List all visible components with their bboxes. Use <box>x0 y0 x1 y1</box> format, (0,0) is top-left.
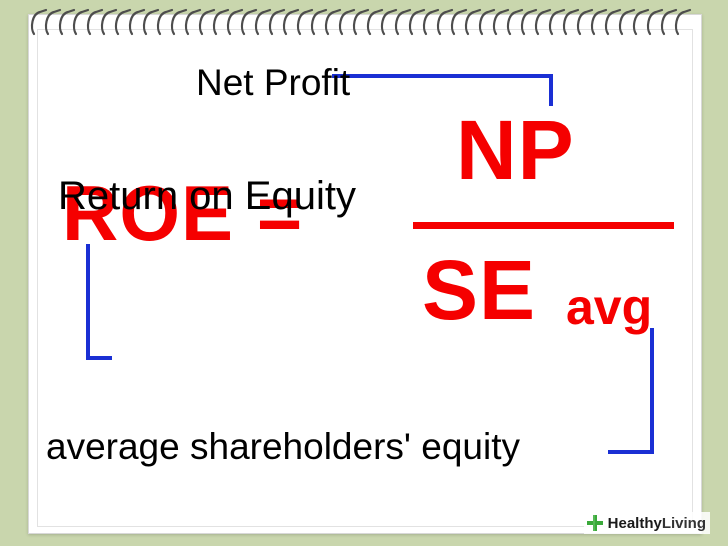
label-net-profit: Net Profit <box>196 64 350 101</box>
label-average-shareholders-equity: average shareholders' equity <box>46 428 520 465</box>
formula-diagram: Net Profit ROE = NP SE avg Return on Equ… <box>0 0 728 546</box>
watermark-brand-second: Living <box>662 515 706 532</box>
watermark: HealthyLiving <box>584 512 710 534</box>
screenshot-root: Net Profit ROE = NP SE avg Return on Equ… <box>0 0 728 546</box>
plus-cross-icon <box>586 514 604 532</box>
formula-denominator-subscript: avg <box>566 282 652 332</box>
watermark-text: HealthyLiving <box>608 515 706 532</box>
label-return-on-equity: Return on Equity <box>58 176 356 216</box>
watermark-brand-first: Healthy <box>608 515 662 532</box>
formula-numerator: NP <box>456 108 575 192</box>
formula-denominator: SE <box>422 248 536 332</box>
formula-fraction-bar <box>413 222 674 229</box>
